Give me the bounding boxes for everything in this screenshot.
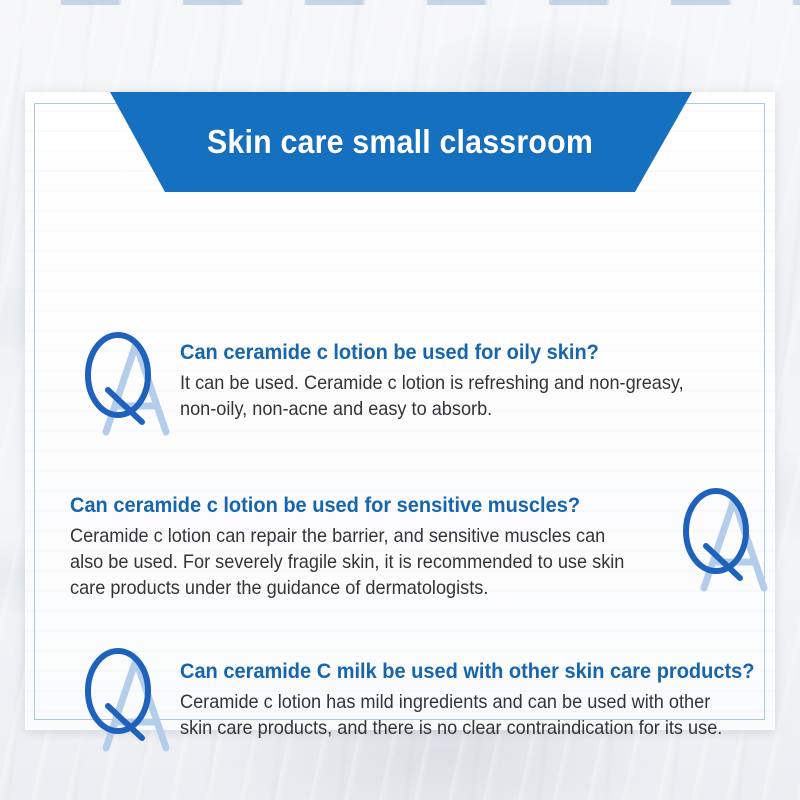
question-text: Can ceramide c lotion be used for sensit… (70, 492, 624, 518)
qa-text-1: Can ceramide c lotion be used for oily s… (180, 339, 722, 422)
page-title: Skin care small classroom (55, 92, 745, 192)
answer-text: It can be used. Ceramide c lotion is ref… (180, 370, 722, 422)
qa-block-1: Can ceramide c lotion be used for oily s… (80, 324, 770, 444)
top-edge-marks (0, 0, 800, 5)
answer-line: Ceramide c lotion has mild ingredients a… (180, 689, 754, 715)
answer-line: also be used. For severely fragile skin,… (70, 549, 624, 575)
qa-logo-icon (678, 484, 774, 594)
answer-line: Ceramide c lotion can repair the barrier… (70, 523, 624, 549)
qa-block-3: Can ceramide C milk be used with other s… (80, 644, 770, 764)
qa-logo-icon (80, 328, 176, 438)
question-text: Can ceramide C milk be used with other s… (180, 658, 754, 684)
qa-logo (678, 484, 774, 599)
banner: Skin care small classroom (25, 92, 775, 192)
answer-text: Ceramide c lotion can repair the barrier… (70, 523, 666, 601)
answer-line: non-oily, non-acne and easy to absorb. (180, 396, 684, 422)
answer-line: skin care products, and there is no clea… (180, 715, 754, 741)
qa-logo-icon (80, 644, 176, 754)
answer-text: Ceramide c lotion has mild ingredients a… (180, 689, 798, 741)
answer-line: It can be used. Ceramide c lotion is ref… (180, 370, 684, 396)
infographic-card: Skin care small classroom Can ceramide c… (25, 92, 775, 730)
qa-block-2: Can ceramide c lotion be used for sensit… (70, 484, 770, 624)
qa-text-3: Can ceramide C milk be used with other s… (180, 658, 798, 741)
question-text: Can ceramide c lotion be used for oily s… (180, 339, 684, 365)
answer-line: care products under the guidance of derm… (70, 575, 624, 601)
qa-text-2: Can ceramide c lotion be used for sensit… (70, 492, 666, 601)
qa-logo (80, 644, 176, 759)
qa-logo (80, 328, 176, 443)
